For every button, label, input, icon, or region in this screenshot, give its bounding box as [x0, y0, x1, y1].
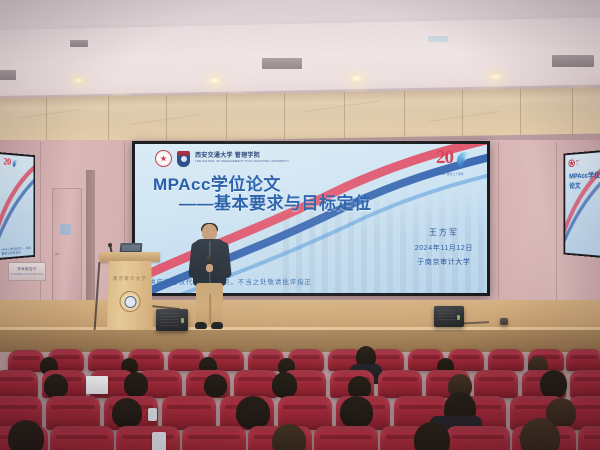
- seat: [314, 426, 378, 450]
- door-handle[interactable]: [55, 253, 59, 255]
- school-shield-icon: [177, 151, 190, 167]
- wall-seam: [556, 142, 557, 308]
- audience-head: [204, 374, 227, 397]
- seat: [570, 370, 600, 398]
- slide-presenter-name: 王方军: [415, 227, 473, 238]
- slide-place: 于南京审计大学: [415, 257, 473, 267]
- audience-seating-area: [0, 344, 600, 450]
- side-screen-left-surface: 20 MPAcc学位论文 — 基本要求与目标定位: [0, 154, 34, 258]
- slide-swoosh-graphic: [565, 152, 600, 256]
- anniversary-ribbon-icon: [12, 160, 19, 169]
- door-sign-icon: [60, 224, 71, 235]
- ceiling-vent: [552, 55, 594, 67]
- seat: [8, 350, 44, 372]
- slide-title-line-2: ——基本要求与目标定位: [179, 194, 453, 214]
- university-seal-icon: [568, 159, 574, 167]
- audience-head: [520, 418, 560, 450]
- marble-wall-band: [0, 88, 600, 144]
- seat: [488, 349, 524, 371]
- audience-laptop[interactable]: [86, 376, 108, 394]
- seat: [182, 426, 246, 450]
- anniversary-number: 20: [436, 148, 453, 167]
- seat: [446, 426, 510, 450]
- audience-phone[interactable]: [148, 408, 157, 421]
- side-screen-left: 20 MPAcc学位论文 — 基本要求与目标定位: [0, 152, 35, 260]
- ceiling-downlight: [208, 77, 221, 84]
- seat: [162, 396, 216, 430]
- stage-monitor-left: [156, 309, 188, 331]
- side-exit-door[interactable]: [52, 188, 82, 302]
- slide-header-logos: 西安交通大学 管理学院 THE SCHOOL OF MANAGEMENT XI'…: [155, 150, 289, 167]
- stage-monitor-right: [434, 306, 464, 327]
- ceiling-vent: [0, 70, 16, 80]
- ceiling-downlight: [72, 77, 85, 84]
- audience-head: [540, 370, 567, 398]
- seat: [566, 349, 600, 371]
- ceiling-vent: [262, 58, 302, 69]
- side-screen-right-title: MPAcc学位论文: [569, 170, 600, 191]
- hall-name-en: ACADEMIC LECTURE HALL: [10, 273, 43, 276]
- seat: [116, 426, 180, 450]
- side-screen-right-surface: MPAcc学位论文: [565, 152, 600, 256]
- wall-seam: [498, 142, 499, 310]
- hall-name-plate: 学术报告厅 ACADEMIC LECTURE HALL: [8, 262, 46, 281]
- speaker-grille: [160, 313, 179, 326]
- audience-head: [340, 396, 373, 428]
- slide-title-line-1: MPAcc学位论文: [153, 176, 453, 194]
- university-name-block: 西安交通大学 管理学院 THE SCHOOL OF MANAGEMENT XI'…: [195, 153, 289, 164]
- podium-body: 南京审计大学: [107, 261, 153, 330]
- audience-head: [414, 422, 450, 450]
- seat: [474, 370, 518, 398]
- speaker-podium: 南京审计大学: [104, 252, 156, 330]
- audience-head: [112, 398, 142, 428]
- audience-head: [124, 372, 148, 397]
- ceiling-downlight: [489, 73, 502, 80]
- slide-title-block: MPAcc学位论文 ——基本要求与目标定位: [153, 176, 453, 213]
- seat: [378, 370, 422, 398]
- university-name-en: THE SCHOOL OF MANAGEMENT XI'AN JIAOTONG …: [195, 160, 289, 164]
- audience-head: [236, 396, 270, 429]
- trouser-seam: [209, 294, 211, 324]
- slide-footer-note: 讲座内容仅代表个人观点，不当之处敬请批评指正: [149, 276, 312, 286]
- stage-monitor-far-right: [500, 318, 508, 325]
- seat: [578, 426, 600, 450]
- side-screen-right-logos: [568, 159, 580, 167]
- anniversary-logo: 20: [3, 157, 20, 171]
- wall-seam: [40, 142, 41, 312]
- anniversary-ribbon-icon: [457, 152, 474, 169]
- presenter-hand: [206, 264, 213, 272]
- power-led-icon: [181, 318, 184, 323]
- school-shield-icon: [577, 160, 581, 166]
- main-projection-screen: 西安交通大学 管理学院 THE SCHOOL OF MANAGEMENT XI'…: [132, 141, 490, 296]
- presenter-shoe-left: [195, 322, 207, 329]
- seat: [88, 349, 124, 371]
- slide-presenter-block: 王方军 2024年11月12日 于南京审计大学: [415, 227, 473, 267]
- podium-front-text: 南京审计大学: [113, 276, 147, 282]
- seat: [0, 370, 38, 398]
- power-led-icon: [457, 315, 460, 320]
- podium-top-surface: [100, 252, 160, 262]
- audience-head: [8, 420, 44, 450]
- lecture-hall-photo: 20 MPAcc学位论文 — 基本要求与目标定位 MPAcc学位论文 学术报告厅…: [0, 0, 600, 450]
- speaker-grille: [438, 310, 455, 323]
- ceiling-vent: [70, 40, 88, 47]
- presenter-person: [190, 224, 230, 330]
- university-emblem-icon: [120, 291, 141, 312]
- audience-head: [272, 372, 297, 398]
- door-frame-shadow: [86, 170, 95, 305]
- side-screen-right: MPAcc学位论文: [564, 150, 600, 258]
- hall-name-cn: 学术报告厅: [17, 267, 36, 272]
- university-seal-icon: [155, 150, 172, 167]
- ceiling-vent: [428, 36, 448, 42]
- slide-date: 2024年11月12日: [415, 243, 473, 253]
- ceiling-downlight: [350, 75, 363, 82]
- anniversary-logo: 20 MPAcc 教育二十周年: [436, 149, 476, 176]
- audience-head: [272, 424, 306, 450]
- audience-phone[interactable]: [152, 432, 166, 450]
- audience-head: [44, 374, 68, 398]
- presenter-shoe-right: [211, 322, 223, 329]
- seat: [50, 426, 114, 450]
- seat: [46, 396, 100, 430]
